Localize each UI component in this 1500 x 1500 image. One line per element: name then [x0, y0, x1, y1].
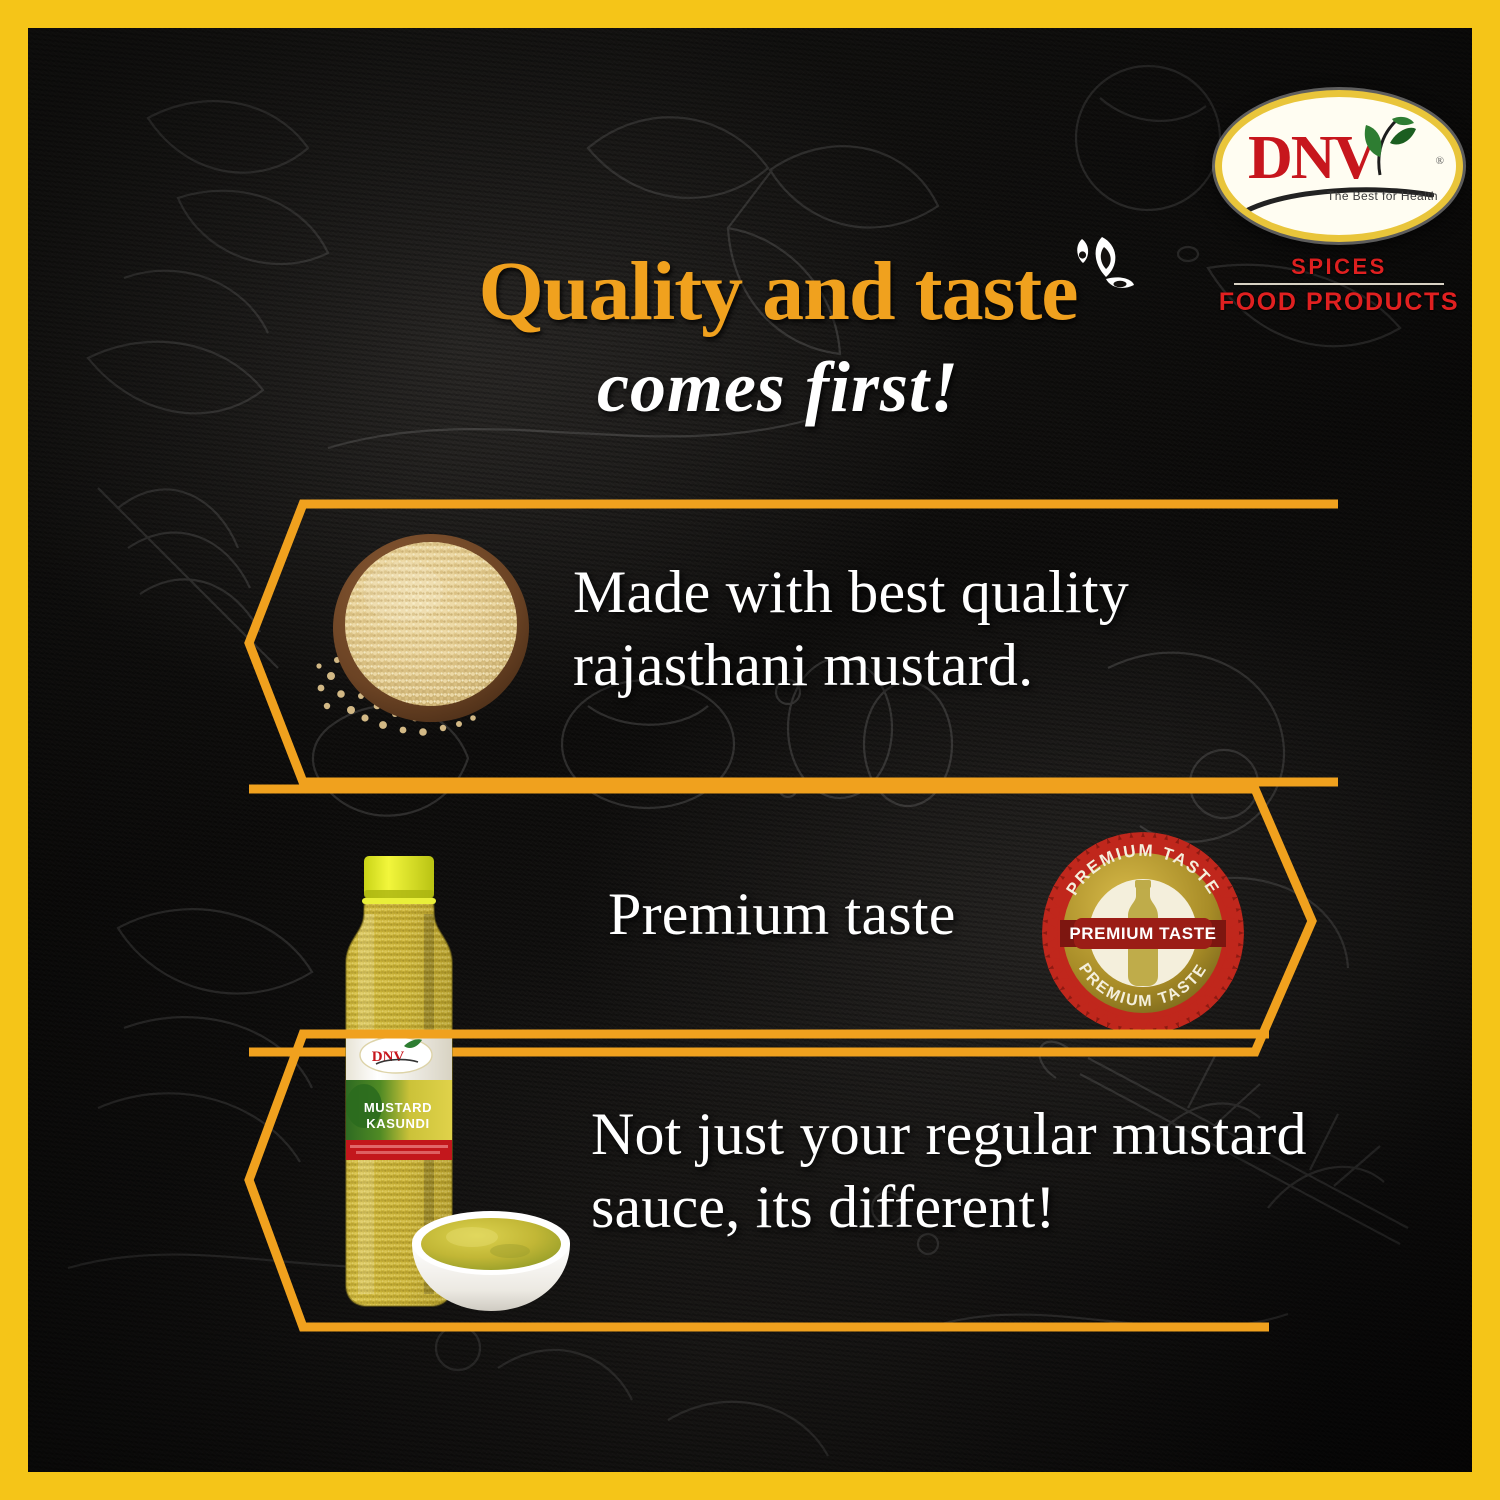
- registered-mark: ®: [1436, 155, 1444, 167]
- badge-banner: PREMIUM TASTE: [1060, 918, 1226, 949]
- premium-taste-badge: PREMIUM TASTE PREMIUM TASTE PREMIUM TAST…: [1038, 828, 1248, 1038]
- mustard-seed-bowl-image: [303, 518, 553, 748]
- poster-stage: DNV ® The Best for Health SPICES FOOD PR…: [28, 28, 1472, 1472]
- headline-line-1: Quality and taste: [478, 243, 1077, 340]
- headline-block: Quality and taste comes first!: [28, 243, 1472, 429]
- logo-tagline: The Best for Health: [1327, 189, 1438, 203]
- sprout-leaf-icon: [1346, 113, 1418, 187]
- feature-text-quality-mustard: Made with best quality rajasthani mustar…: [573, 556, 1273, 702]
- logo-oval: DNV ® The Best for Health: [1215, 90, 1463, 242]
- poster-root: DNV ® The Best for Health SPICES FOOD PR…: [0, 0, 1500, 1500]
- badge-banner-text: PREMIUM TASTE: [1069, 924, 1216, 943]
- feature-row-not-regular-sauce: Not just your regular mustard sauce, its…: [243, 1028, 1273, 1333]
- sparkle-flourish-icon: [1072, 235, 1136, 297]
- feature-text-not-regular-sauce: Not just your regular mustard sauce, its…: [591, 1098, 1381, 1244]
- headline-line-1-text: Quality and taste: [478, 245, 1077, 338]
- headline-line-2: comes first!: [28, 346, 1472, 429]
